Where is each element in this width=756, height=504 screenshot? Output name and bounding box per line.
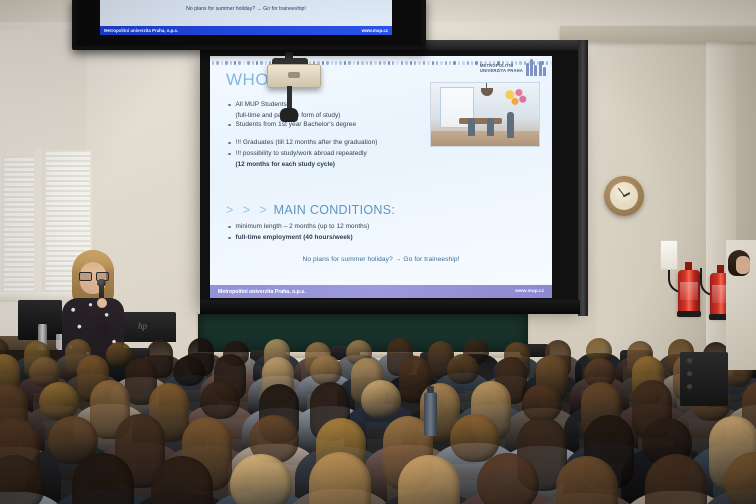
conditions-list: minimum length – 2 months (up to 12 mont… xyxy=(228,222,458,244)
decor-dot xyxy=(256,61,258,65)
list-item: !!! Graduates (till 12 months after the … xyxy=(228,138,418,147)
extinguisher-base xyxy=(677,311,701,317)
decor-dot xyxy=(243,61,245,65)
audience-head xyxy=(310,355,342,385)
decor-dot xyxy=(392,61,394,65)
presentation-slide: METROPOLITNÍ UNIVERZITA PRAHA WHO xyxy=(210,56,552,298)
bullet-subtext: (full-time and part-time form of study) xyxy=(236,111,419,120)
mup-logo: METROPOLITNÍ UNIVERZITA PRAHA xyxy=(480,59,546,76)
slide-footer-organization: Metropolitní univerzita Praha, o.p.s. xyxy=(218,289,306,295)
bullet-dot-icon xyxy=(228,226,231,229)
projection-screen-bottom-bar xyxy=(200,300,580,314)
list-item: Students from 1st year Bachelor's degree xyxy=(228,120,418,129)
list-item: full-time employment (40 hours/week) xyxy=(228,233,458,242)
decor-dot xyxy=(357,61,359,65)
wall-clock xyxy=(604,176,644,216)
decor-dot xyxy=(247,61,249,65)
bullet-dot-icon xyxy=(228,142,231,145)
decor-dot xyxy=(550,61,552,65)
decor-dot xyxy=(401,61,403,65)
bullet-dot-icon xyxy=(228,237,231,240)
ceiling-projector xyxy=(267,64,321,88)
decor-dot xyxy=(366,61,368,65)
decor-dot xyxy=(396,61,398,65)
decor-dot xyxy=(326,61,328,65)
decor-dot xyxy=(427,61,429,65)
hp-logo-icon: hp xyxy=(138,321,147,331)
decor-dot xyxy=(388,61,390,65)
decor-dot xyxy=(462,61,464,65)
decor-dot xyxy=(260,61,262,65)
decor-dot xyxy=(331,61,333,65)
decor-dot xyxy=(383,61,385,65)
overhead-monitor: •full-time employment (40 hours/week) No… xyxy=(72,0,426,50)
decor-dot xyxy=(471,61,473,65)
decor-dot xyxy=(475,61,477,65)
decor-dot xyxy=(379,61,381,65)
decor-dot xyxy=(445,61,447,65)
decor-dot xyxy=(414,61,416,65)
decor-dot xyxy=(361,61,363,65)
main-conditions-label: MAIN CONDITIONS: xyxy=(274,203,395,217)
decor-dot xyxy=(458,61,460,65)
bullet-dot-icon xyxy=(228,104,231,107)
decor-dot xyxy=(436,61,438,65)
audience-head xyxy=(447,354,479,384)
overhead-monitor-footer: Metropolitní univerzita Praha, o.p.s. ww… xyxy=(100,26,392,35)
decor-dot xyxy=(370,61,372,65)
decor-dot xyxy=(225,61,227,65)
main-conditions-heading: > > > MAIN CONDITIONS: xyxy=(226,203,395,217)
condition-text: minimum length – 2 months (up to 12 mont… xyxy=(236,222,370,231)
ceiling-camera xyxy=(280,108,298,122)
decor-dot xyxy=(234,61,236,65)
extinguisher-body xyxy=(678,270,700,314)
decor-dot xyxy=(252,61,254,65)
decor-dot xyxy=(423,61,425,65)
decor-dot xyxy=(405,61,407,65)
decor-dot xyxy=(322,61,324,65)
overhead-cta: No plans for summer holiday? → Go for tr… xyxy=(108,6,384,12)
audience xyxy=(0,336,756,504)
slide-footer-website: www.mup.cz xyxy=(515,289,544,294)
wall-notice xyxy=(660,240,678,270)
decor-dot xyxy=(221,61,223,65)
slide-footer: Metropolitní univerzita Praha, o.p.s. ww… xyxy=(210,285,552,298)
list-item: All MUP Students xyxy=(228,100,418,109)
decor-dot xyxy=(339,61,341,65)
decor-dot xyxy=(335,61,337,65)
clock-center-pin xyxy=(623,195,625,197)
slide-title: WHO xyxy=(226,70,269,90)
decor-dot xyxy=(344,61,346,65)
decor-dot xyxy=(453,61,455,65)
projector-lens-icon xyxy=(288,72,300,78)
window-mullion xyxy=(34,148,42,298)
decor-dot xyxy=(449,61,451,65)
slide-bullet-list: All MUP Students (full-time and part-tim… xyxy=(228,100,418,169)
audience-head xyxy=(39,382,79,420)
window-blind xyxy=(4,158,34,294)
list-item: minimum length – 2 months (up to 12 mont… xyxy=(228,222,458,231)
overhead-footer-left: Metropolitní univerzita Praha, o.p.s. xyxy=(104,28,178,33)
audience-water-bottle xyxy=(424,392,437,436)
audience-head xyxy=(361,380,401,418)
fire-extinguisher xyxy=(678,262,700,314)
presenter-glasses-icon xyxy=(79,272,107,279)
decor-dot xyxy=(374,61,376,65)
lecture-hall-photo: •full-time employment (40 hours/week) No… xyxy=(0,0,756,504)
av-equipment-rack xyxy=(680,352,728,406)
decor-dot xyxy=(418,61,420,65)
mup-logo-mark-icon xyxy=(526,59,546,76)
bullet-text: All MUP Students xyxy=(236,100,287,109)
decor-dot xyxy=(546,61,548,65)
decor-dot xyxy=(348,61,350,65)
decor-dot xyxy=(216,61,218,65)
window-left-1 xyxy=(2,156,36,296)
audience-head xyxy=(450,414,500,462)
decor-dot xyxy=(230,61,232,65)
standing-person-face xyxy=(736,256,750,274)
decor-dot xyxy=(410,61,412,65)
mup-logo-text: METROPOLITNÍ UNIVERZITA PRAHA xyxy=(480,63,523,73)
projection-screen-roller xyxy=(578,40,588,316)
bullet-dot-icon xyxy=(228,124,231,127)
overhead-footer-right: www.mup.cz xyxy=(362,28,388,33)
bullet-subtext: (12 months for each study cycle) xyxy=(236,160,419,169)
bullet-text: !!! possibility to study/work abroad rep… xyxy=(236,149,367,158)
overhead-monitor-screen: •full-time employment (40 hours/week) No… xyxy=(100,0,392,26)
presenter-hand xyxy=(97,298,107,308)
decor-dot xyxy=(440,61,442,65)
ceiling-beam xyxy=(560,26,756,42)
overhead-bullet-line: •full-time employment (40 hours/week) xyxy=(108,0,384,1)
list-item: !!! possibility to study/work abroad rep… xyxy=(228,149,418,158)
presenter-fringe xyxy=(72,250,114,272)
chevron-prefix: > > > xyxy=(226,203,270,217)
condition-text: full-time employment (40 hours/week) xyxy=(236,233,353,242)
decor-dot xyxy=(238,61,240,65)
audience-head xyxy=(173,356,205,386)
decor-dot xyxy=(212,61,214,65)
decor-dot xyxy=(432,61,434,65)
bullet-dot-icon xyxy=(228,153,231,156)
extinguisher-label xyxy=(680,282,698,300)
bullet-text: !!! Graduates (till 12 months after the … xyxy=(236,138,378,147)
decor-dot xyxy=(467,61,469,65)
microphone-head-icon xyxy=(97,279,106,287)
slide-photo-coworking-office xyxy=(430,82,540,147)
decor-dot xyxy=(353,61,355,65)
slide-call-to-action: No plans for summer holiday? → Go for tr… xyxy=(210,256,552,263)
audience-head xyxy=(200,381,240,419)
